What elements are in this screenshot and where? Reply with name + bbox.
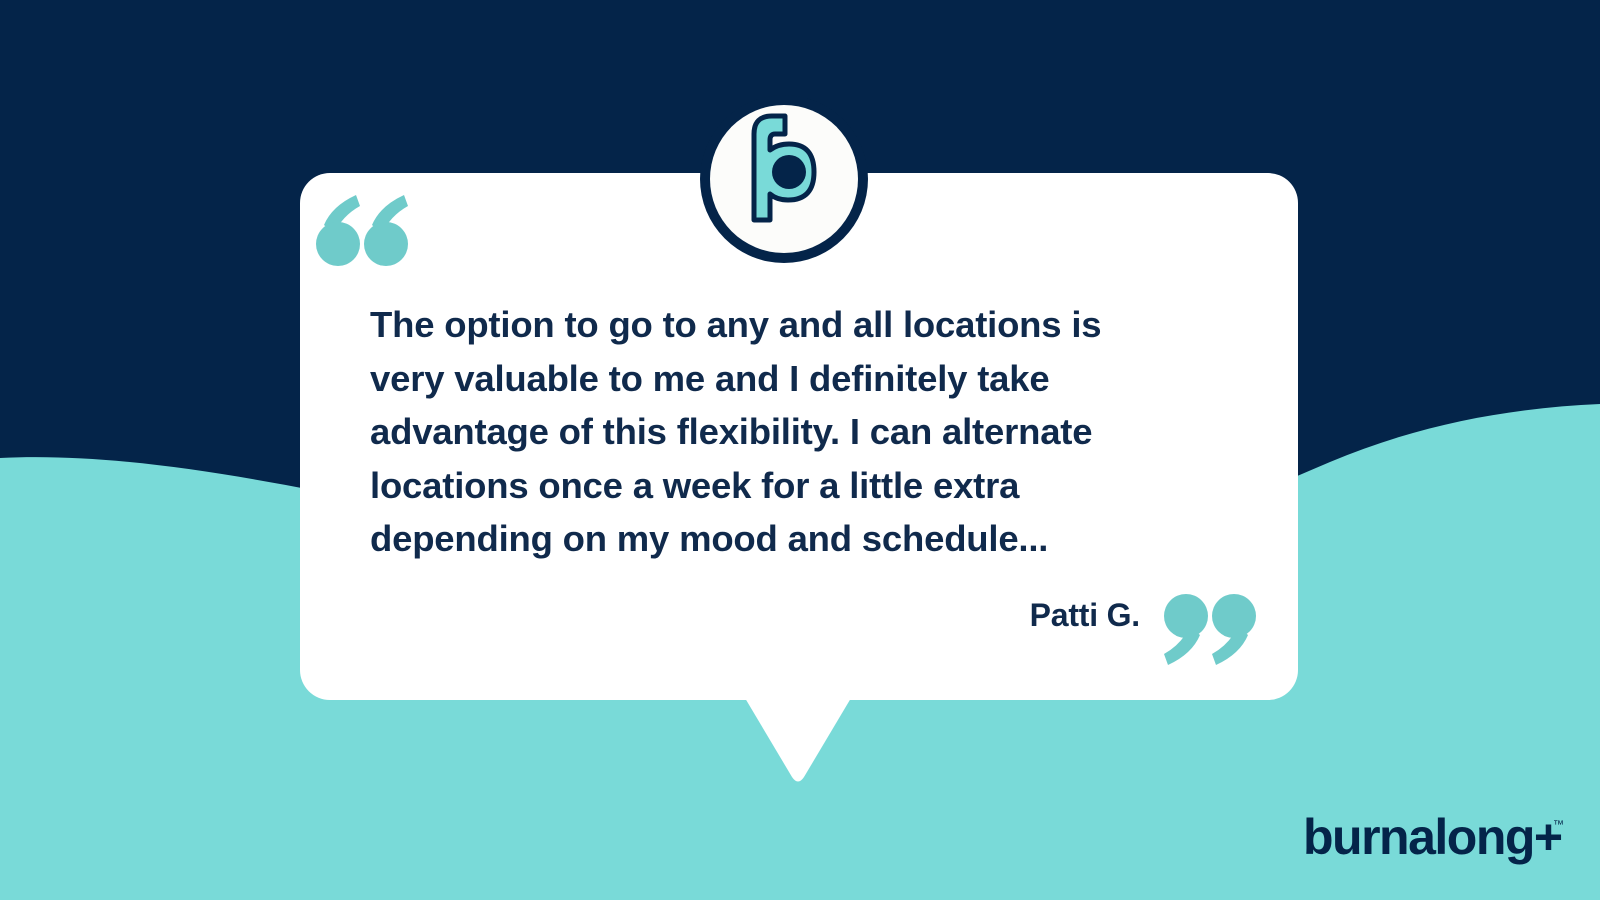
burnalong-b-badge-icon [699,94,869,264]
quote-line: depending on my mood and schedule... [370,512,1230,566]
testimonial-graphic: The option to go to any and all location… [0,0,1600,900]
trademark-symbol: ™ [1553,819,1564,831]
close-quote-icon [1160,592,1256,668]
quote-line: The option to go to any and all location… [370,298,1230,352]
speech-bubble-tail [742,693,854,788]
quote-line: locations once a week for a little extra [370,459,1230,513]
open-quote-icon [316,192,412,268]
burnalong-wordmark: burnalong+ ™ [1303,808,1573,870]
quote-line: very valuable to me and I definitely tak… [370,352,1230,406]
quote-line: advantage of this flexibility. I can alt… [370,405,1230,459]
testimonial-author: Patti G. [700,597,1140,634]
testimonial-quote: The option to go to any and all location… [370,298,1230,566]
brand-wordmark-text: burnalong+ [1303,809,1562,865]
